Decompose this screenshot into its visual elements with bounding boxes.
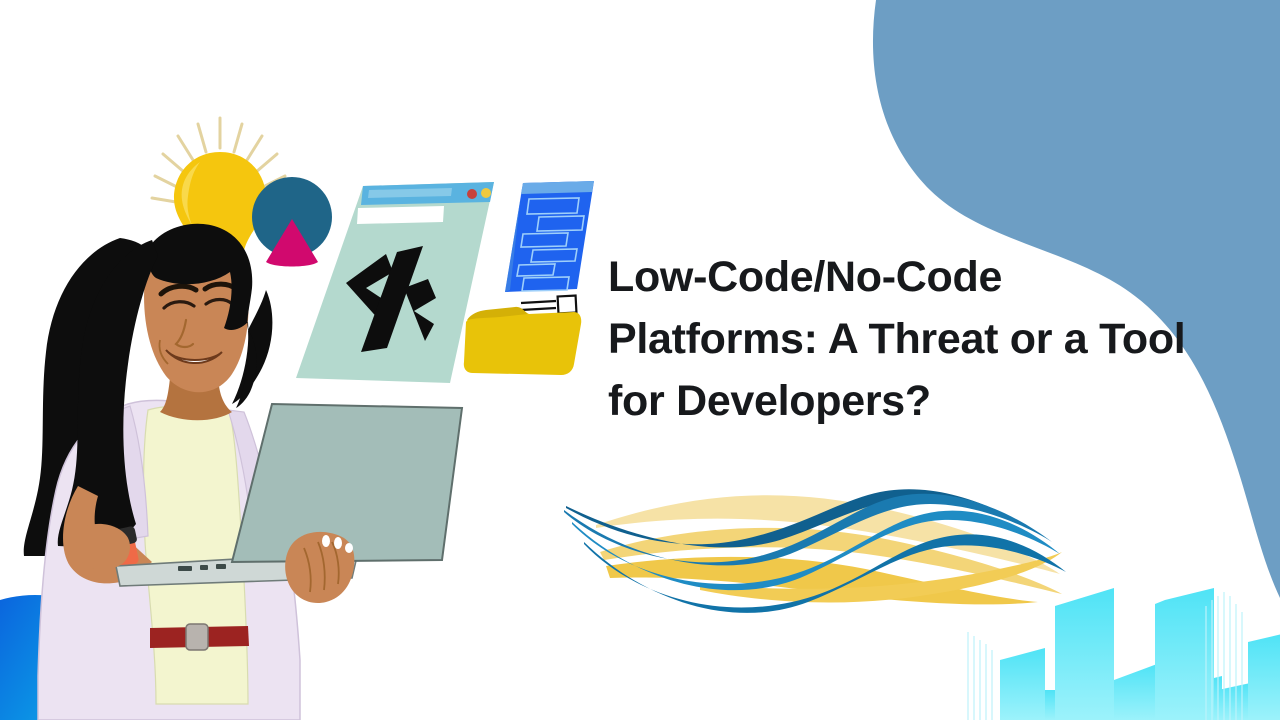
title-line-1: Low-Code/No-Code xyxy=(608,246,1268,308)
title-line-2: Platforms: A Threat or a Tool xyxy=(608,308,1268,370)
hand-right xyxy=(285,532,354,603)
title-line-3: for Developers? xyxy=(608,370,1268,432)
shirt xyxy=(144,406,249,704)
laptop-lid xyxy=(232,404,462,562)
slide-canvas: Low-Code/No-Code Platforms: A Threat or … xyxy=(0,0,1280,720)
title-block: Low-Code/No-Code Platforms: A Threat or … xyxy=(608,246,1268,432)
belt-buckle xyxy=(186,624,208,650)
